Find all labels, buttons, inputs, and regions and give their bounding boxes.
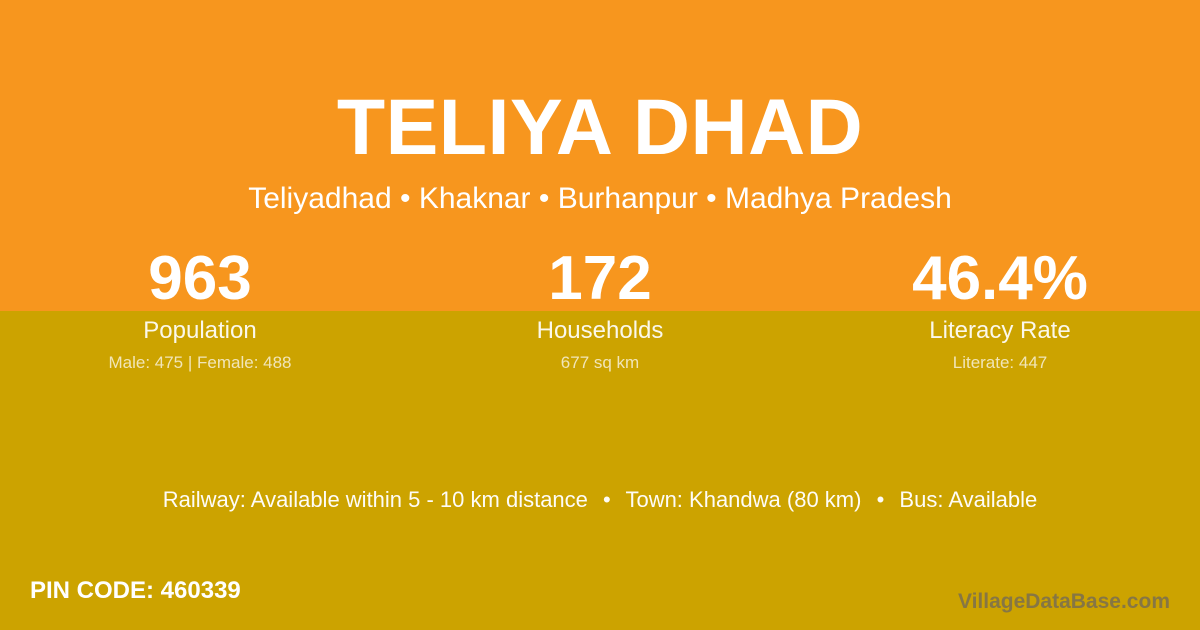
brand-watermark: VillageDataBase.com [958,589,1170,615]
stat-population-label: Population [0,317,400,345]
infra-separator-1: • [594,487,620,512]
page-title: TELIYA DHAD [0,80,1200,174]
pin-code: PIN CODE: 460339 [30,576,241,606]
stat-population-sub: Male: 475 | Female: 488 [0,353,400,373]
infra-town: Town: Khandwa (80 km) [625,487,861,512]
stat-literacy-rate-value: 46.4% [800,246,1200,312]
stat-literacy-rate-sub: Literate: 447 [800,353,1200,373]
stat-households-value: 172 [400,246,800,312]
stats-row: 963 Population Male: 475 | Female: 488 1… [0,246,1200,373]
stat-literacy-rate-label: Literacy Rate [800,317,1200,345]
stat-literacy-rate: 46.4% Literacy Rate Literate: 447 [800,246,1200,373]
stat-households-label: Households [400,317,800,345]
stat-population: 963 Population Male: 475 | Female: 488 [0,246,400,373]
breadcrumb: Teliyadhad • Khaknar • Burhanpur • Madhy… [0,181,1200,217]
infra-railway: Railway: Available within 5 - 10 km dist… [163,487,588,512]
infrastructure-line: Railway: Available within 5 - 10 km dist… [0,486,1200,514]
stat-households-sub: 677 sq km [400,353,800,373]
infra-separator-2: • [868,487,894,512]
infra-bus: Bus: Available [899,487,1037,512]
stat-households: 172 Households 677 sq km [400,246,800,373]
stat-population-value: 963 [0,246,400,312]
village-info-card: TELIYA DHAD Teliyadhad • Khaknar • Burha… [0,0,1200,630]
